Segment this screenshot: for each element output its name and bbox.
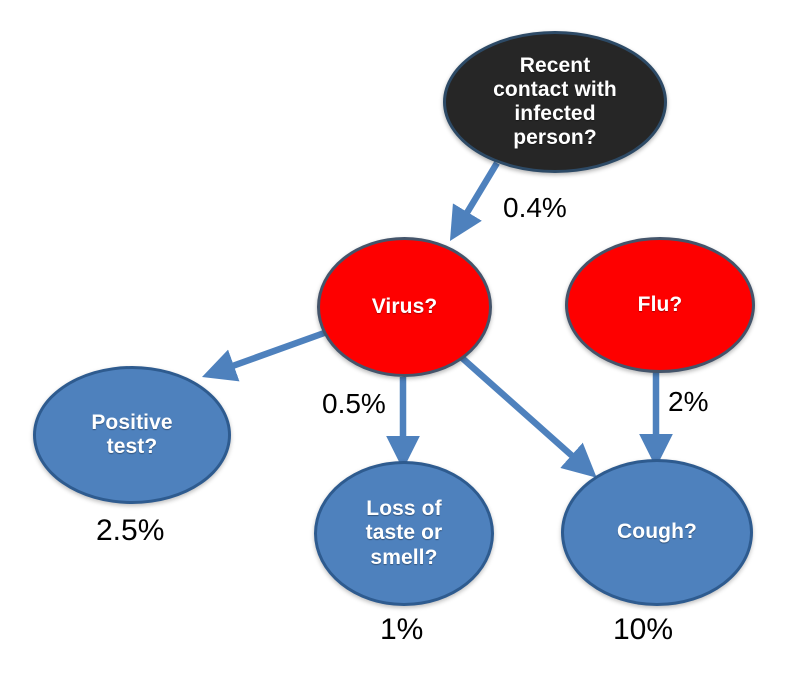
node-flu[interactable]: Flu? bbox=[565, 237, 755, 373]
marginal-label-cough: 10% bbox=[613, 613, 673, 647]
node-cough-label: Cough? bbox=[609, 520, 705, 544]
marginal-label-loss-of-taste-or-smell: 1% bbox=[380, 613, 423, 647]
node-loss-of-taste-or-smell[interactable]: Loss of taste or smell? bbox=[314, 461, 494, 606]
node-loss-of-taste-or-smell-label: Loss of taste or smell? bbox=[358, 497, 451, 569]
node-recent-contact[interactable]: Recent contact with infected person? bbox=[443, 31, 667, 173]
node-recent-contact-label: Recent contact with infected person? bbox=[485, 54, 625, 151]
edge-label-contact-to-virus: 0.4% bbox=[503, 192, 567, 224]
edge-label-flu-to-cough: 2% bbox=[668, 386, 708, 418]
node-positive-test-label: Positive test? bbox=[83, 411, 180, 459]
node-cough[interactable]: Cough? bbox=[561, 459, 753, 606]
edge-contact-to-virus bbox=[456, 163, 497, 231]
edge-virus-to-cough bbox=[461, 357, 588, 470]
node-virus[interactable]: Virus? bbox=[317, 237, 492, 377]
edge-label-virus-to-loss: 0.5% bbox=[322, 388, 386, 420]
edge-virus-to-positive-test bbox=[213, 332, 327, 373]
marginal-label-positive-test: 2.5% bbox=[96, 514, 164, 548]
node-flu-label: Flu? bbox=[630, 293, 691, 317]
diagram-canvas: Recent contact with infected person? Vir… bbox=[0, 0, 806, 684]
node-virus-label: Virus? bbox=[364, 295, 446, 319]
node-positive-test[interactable]: Positive test? bbox=[33, 366, 231, 504]
